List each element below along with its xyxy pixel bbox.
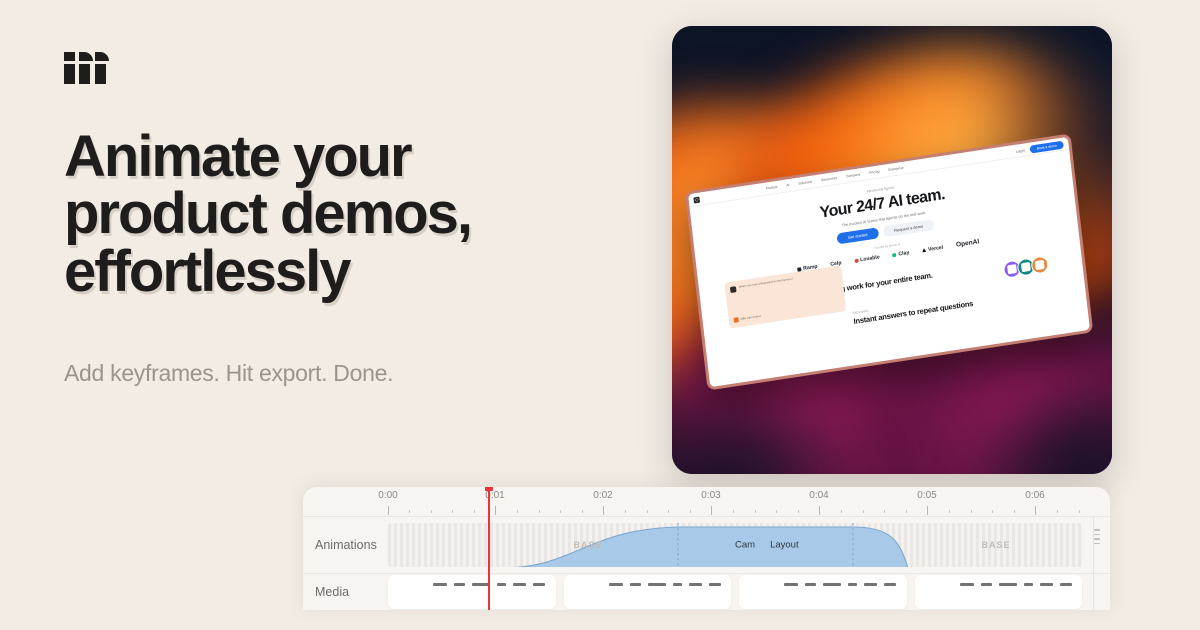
logo-lovable: Lovable bbox=[854, 254, 880, 264]
keyframe-chip-layout[interactable]: Layout bbox=[765, 539, 804, 552]
get-started-button[interactable]: Get started bbox=[836, 227, 879, 244]
site-section-faq: FAQ Agents Instant answers to repeat que… bbox=[852, 293, 973, 326]
book-demo-button[interactable]: Book a demo bbox=[1029, 140, 1064, 153]
logo-vercel: Vercel bbox=[922, 244, 944, 253]
timeline-ruler[interactable]: 0:00 0:01 0:02 0:03 0:04 0:05 0:06 bbox=[303, 487, 1110, 517]
request-demo-button[interactable]: Request a demo bbox=[883, 219, 935, 238]
keyframe-chip-cam[interactable]: Cam bbox=[730, 539, 760, 552]
media-clip[interactable] bbox=[739, 575, 907, 609]
action-label: Offer with context bbox=[741, 315, 761, 321]
nav-link[interactable]: Company bbox=[846, 172, 861, 178]
row-label-media: Media bbox=[303, 585, 388, 599]
resize-grip-handle[interactable] bbox=[1094, 529, 1100, 547]
avatar bbox=[730, 286, 737, 293]
media-clip[interactable] bbox=[915, 575, 1083, 609]
time-label: 0:04 bbox=[809, 490, 828, 501]
nav-link[interactable]: Enterprise bbox=[888, 166, 904, 172]
timeline-row-animations[interactable]: Animations BASE BASE Cam Layo bbox=[303, 517, 1110, 574]
playhead-handle[interactable] bbox=[485, 487, 493, 491]
login-link[interactable]: Log in bbox=[1016, 148, 1026, 153]
page-title: Animate your product demos, effortlessly bbox=[64, 128, 584, 300]
time-label: 0:05 bbox=[917, 490, 936, 501]
playhead[interactable] bbox=[488, 487, 490, 610]
action-icon bbox=[734, 317, 740, 323]
m-logo[interactable] bbox=[64, 44, 116, 84]
agent-icon-mail bbox=[1030, 255, 1049, 274]
animation-track[interactable]: BASE BASE Cam Layout bbox=[388, 523, 1082, 567]
poster-canvas: Animate your product demos, effortlessly… bbox=[0, 0, 1200, 630]
logo-clay: Clay bbox=[892, 249, 909, 258]
product-screenshot-card: ◇ Product AI Solutions Resources Company… bbox=[672, 26, 1112, 474]
timeline-panel[interactable]: 0:00 0:01 0:02 0:03 0:04 0:05 0:06 bbox=[303, 487, 1110, 610]
nav-link[interactable]: Solutions bbox=[798, 180, 812, 186]
media-clips bbox=[388, 575, 1082, 609]
row-label-animations: Animations bbox=[303, 538, 388, 552]
time-label: 0:00 bbox=[378, 490, 397, 501]
media-clip[interactable] bbox=[564, 575, 732, 609]
nav-link[interactable]: AI bbox=[786, 183, 790, 187]
time-label: 0:02 bbox=[593, 490, 612, 501]
base-label: BASE bbox=[573, 540, 602, 550]
page-subtitle: Add keyframes. Hit export. Done. bbox=[64, 360, 393, 387]
time-label: 0:03 bbox=[701, 490, 720, 501]
site-logo-icon: ◇ bbox=[693, 196, 700, 203]
timeline-rows: Animations BASE BASE Cam Layo bbox=[303, 517, 1110, 610]
message-text: Where can I see a Requested for the firs… bbox=[739, 278, 793, 290]
logo-openai: OpenAI bbox=[956, 238, 980, 248]
nav-link[interactable]: Pricing bbox=[869, 169, 880, 175]
media-clip[interactable] bbox=[388, 575, 556, 609]
nav-link[interactable]: Product bbox=[766, 185, 778, 191]
time-label: 0:06 bbox=[1025, 490, 1044, 501]
timeline-row-media[interactable]: Media bbox=[303, 574, 1110, 610]
base-label: BASE bbox=[981, 540, 1010, 550]
nav-link[interactable]: Resources bbox=[821, 176, 837, 182]
